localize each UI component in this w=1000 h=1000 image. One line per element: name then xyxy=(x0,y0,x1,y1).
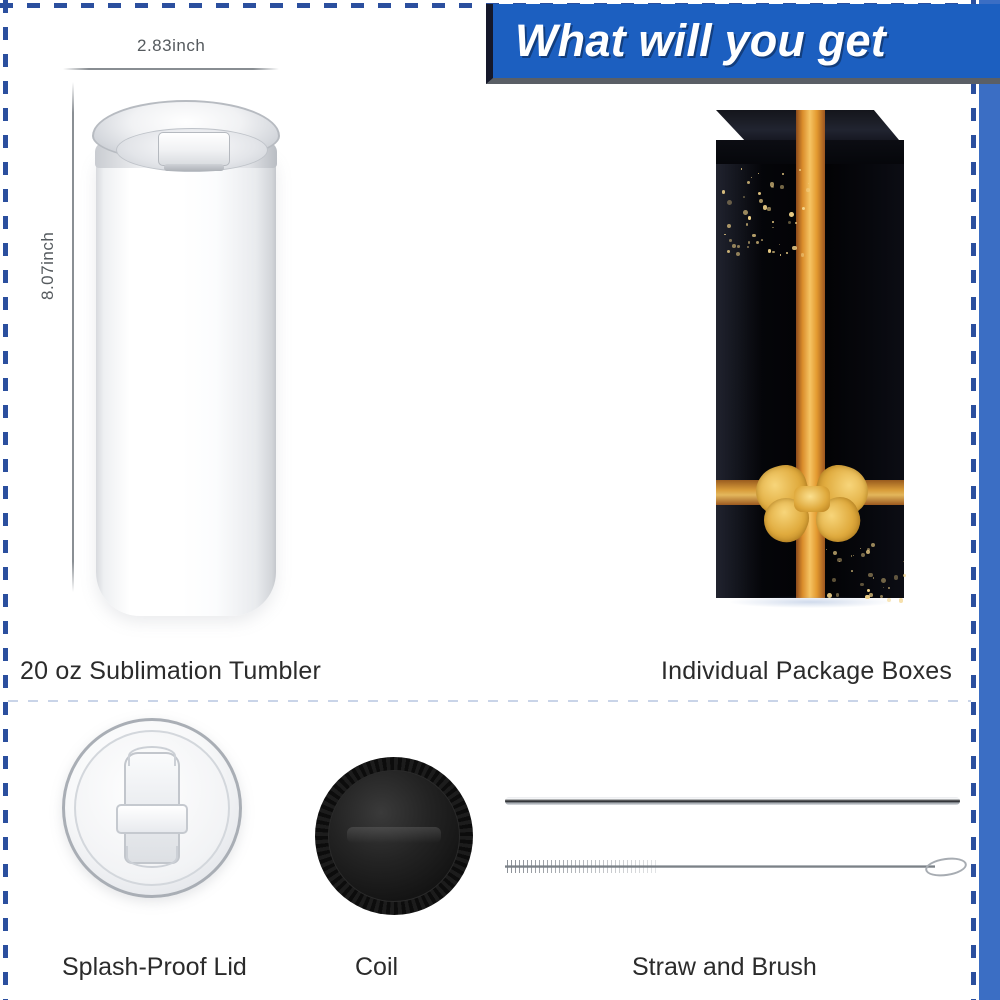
caption-splash-proof-lid: Splash-Proof Lid xyxy=(62,953,247,982)
row-separator xyxy=(8,700,971,702)
frame-border-right xyxy=(971,0,976,1000)
height-dimension-line xyxy=(72,82,74,592)
caption-package-boxes: Individual Package Boxes xyxy=(661,657,952,686)
tumbler-lid-slider xyxy=(158,132,230,166)
gift-bow xyxy=(756,446,868,558)
product-splash-proof-lid xyxy=(62,718,242,898)
header-title: What will you get xyxy=(515,15,886,67)
product-straw xyxy=(505,797,960,805)
frame-border-left xyxy=(3,0,8,1000)
product-package-box xyxy=(700,110,922,602)
lid-bottom-arc xyxy=(126,846,178,868)
bow-knot xyxy=(794,486,830,512)
coil-emboss xyxy=(347,827,441,843)
width-dimension-label: 2.83inch xyxy=(137,36,205,56)
infographic-canvas: What will you get 2.83inch 8.07inch xyxy=(0,0,1000,1000)
product-brush xyxy=(505,858,970,876)
straw-tube xyxy=(505,797,960,805)
caption-tumbler: 20 oz Sublimation Tumbler xyxy=(20,657,321,686)
height-dimension-label: 8.07inch xyxy=(38,232,58,300)
brush-bristles xyxy=(507,860,657,873)
caption-straw-and-brush: Straw and Brush xyxy=(632,953,817,982)
tumbler-lid-notch xyxy=(164,164,224,171)
product-coil xyxy=(315,757,473,915)
header-banner: What will you get xyxy=(486,4,1000,84)
lid-top-arc xyxy=(128,746,176,766)
product-tumbler xyxy=(88,84,284,624)
frame-gap-right xyxy=(976,0,979,1000)
tumbler-lid xyxy=(92,100,280,162)
tumbler-body xyxy=(96,154,276,616)
frame-strip-right xyxy=(978,0,1000,1000)
caption-coil: Coil xyxy=(355,953,398,982)
width-dimension-line xyxy=(63,68,279,70)
brush-loop-tip xyxy=(924,855,968,879)
lid-thumb-tab xyxy=(116,804,188,834)
